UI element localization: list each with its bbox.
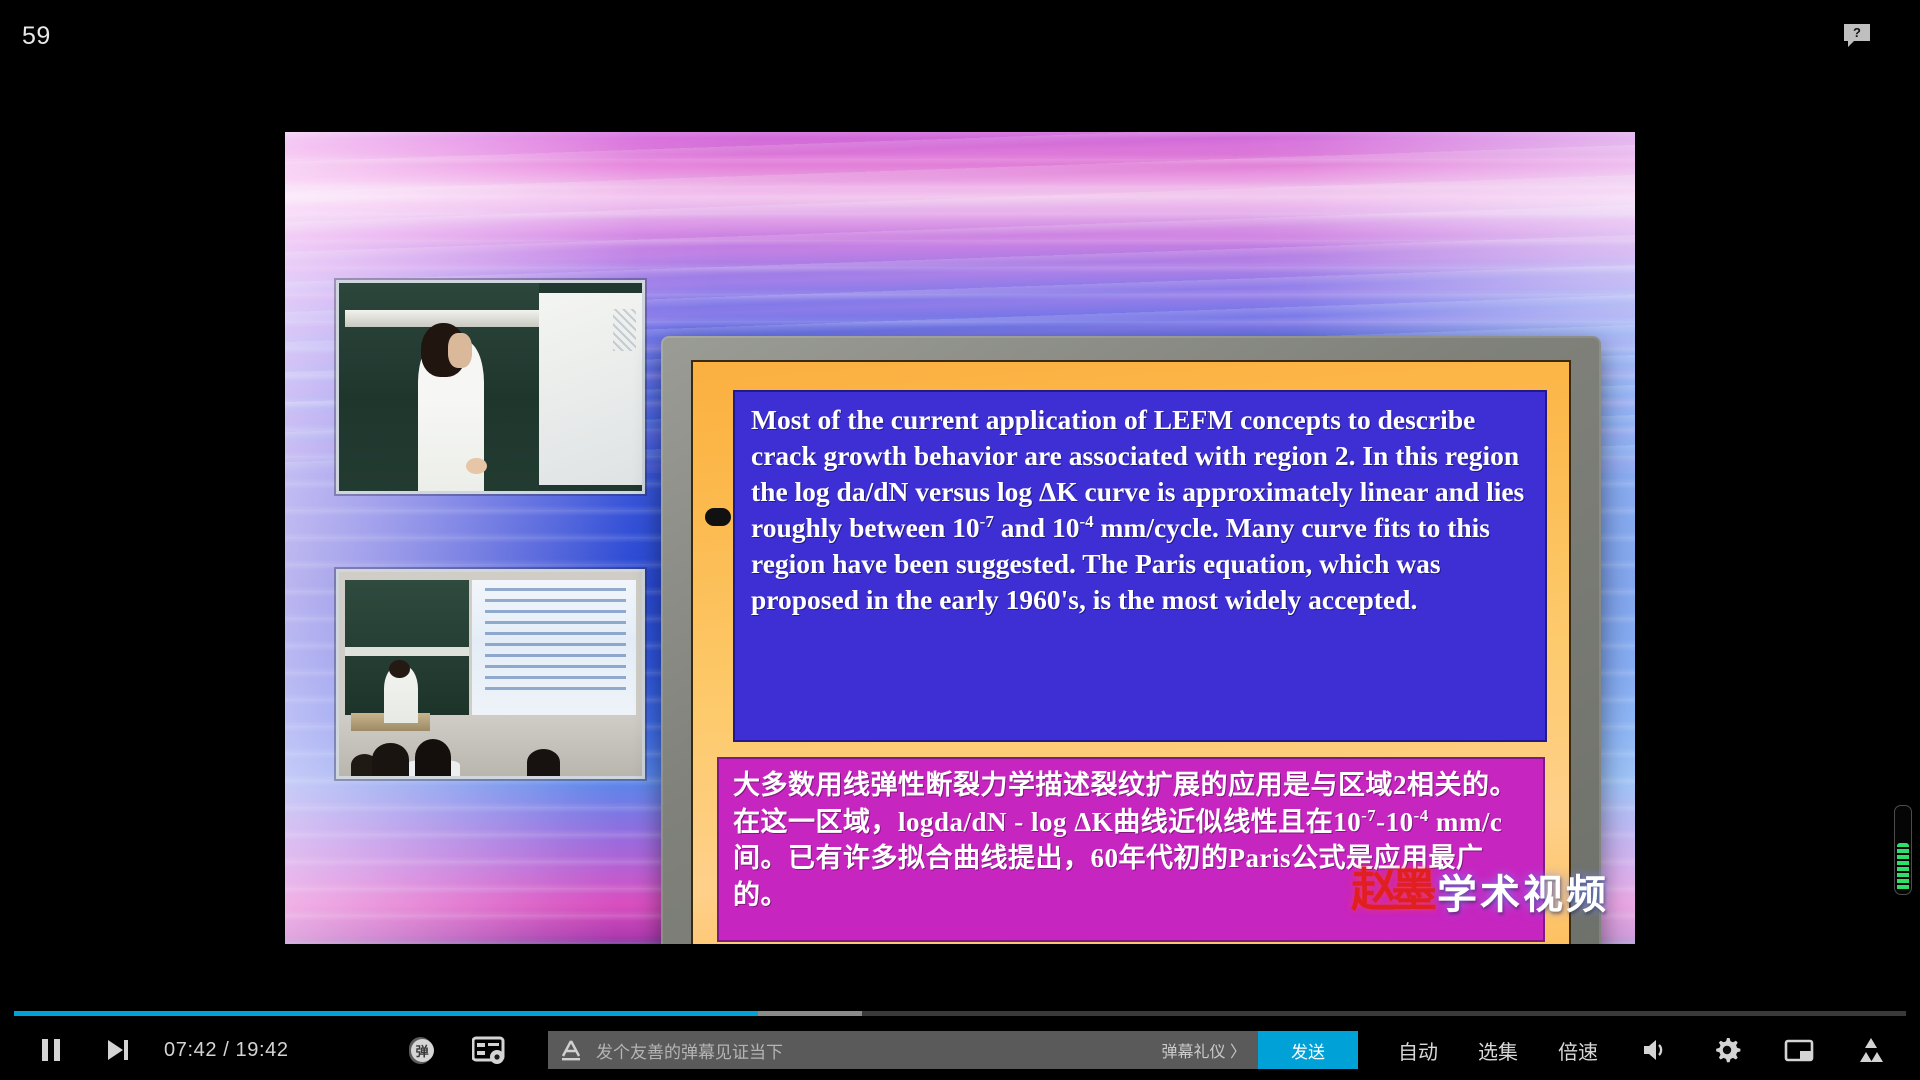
bullet-marker-icon (705, 508, 731, 526)
quality-auto-button[interactable]: 自动 (1398, 1036, 1438, 1065)
control-bar: 07:42 / 19:42 弹 发个友善的弹幕见证当下 弹幕礼仪 (0, 1020, 1920, 1080)
pause-icon[interactable] (34, 1033, 68, 1067)
watermark-text: 学术视频 (1437, 862, 1609, 920)
next-episode-icon[interactable] (102, 1035, 132, 1065)
danmaku-input[interactable]: 发个友善的弹幕见证当下 (596, 1038, 783, 1063)
send-danmaku-button[interactable]: 发送 (1258, 1031, 1358, 1069)
font-style-icon[interactable] (558, 1037, 584, 1063)
picture-in-picture-icon[interactable] (1784, 1035, 1814, 1065)
svg-text:?: ? (1853, 25, 1861, 40)
gear-icon[interactable] (1712, 1035, 1742, 1065)
danmaku-counter: 59 (22, 22, 51, 51)
danmaku-settings-icon[interactable] (472, 1035, 506, 1065)
slide-content: Most of the current application of LEFM … (691, 360, 1571, 944)
danmaku-toggle[interactable]: 弹 (409, 1037, 432, 1064)
watermark-seal: 赵墨 (1351, 868, 1431, 914)
video-surface[interactable]: Most of the current application of LEFM … (285, 132, 1635, 944)
danmaku-input-container[interactable]: 发个友善的弹幕见证当下 弹幕礼仪 〉 发送 (548, 1031, 1358, 1069)
widescreen-icon[interactable] (1856, 1035, 1886, 1065)
episode-list-button[interactable]: 选集 (1478, 1036, 1518, 1065)
volume-icon[interactable] (1640, 1035, 1670, 1065)
playback-speed-button[interactable]: 倍速 (1558, 1036, 1598, 1065)
time-display: 07:42 / 19:42 (164, 1039, 289, 1062)
classroom-wide-inset (336, 569, 645, 779)
slide-english-textbox: Most of the current application of LEFM … (733, 390, 1547, 742)
danmaku-etiquette-link[interactable]: 弹幕礼仪 〉 (1162, 1038, 1246, 1062)
slide-english-paragraph: Most of the current application of LEFM … (751, 402, 1529, 618)
slide-frame: Most of the current application of LEFM … (661, 336, 1601, 944)
progress-bar[interactable] (14, 1011, 1906, 1016)
channel-watermark: 赵墨 学术视频 (1351, 862, 1609, 920)
help-bubble-icon[interactable]: ? (1842, 22, 1872, 50)
lecturer-closeup-inset (336, 280, 645, 494)
danmaku-toggle-knob: 弹 (411, 1039, 434, 1062)
level-meter-fill (1897, 843, 1909, 891)
level-meter[interactable] (1894, 805, 1912, 895)
right-controls: 自动 选集 倍速 (1358, 1035, 1886, 1065)
player-page: 59 ? (0, 0, 1920, 1080)
progress-played (14, 1011, 758, 1016)
